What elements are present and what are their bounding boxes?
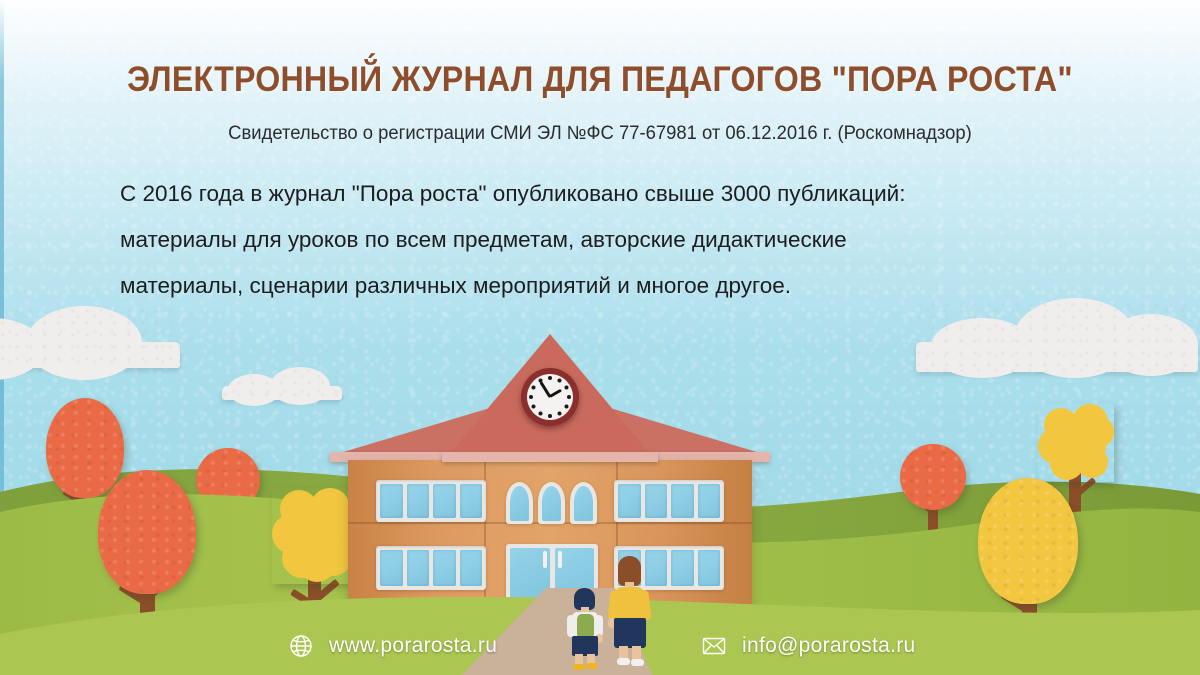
school-building <box>330 334 770 606</box>
window-pane <box>380 550 403 586</box>
clock-hour-hand <box>549 389 562 398</box>
tree-canopy <box>98 470 196 594</box>
window-pane <box>380 484 403 518</box>
cloud-top-left <box>0 306 180 368</box>
figure-child <box>562 588 606 668</box>
child-backpack <box>577 614 594 638</box>
arched-window-center <box>538 482 565 524</box>
child-shoe-left <box>573 664 585 670</box>
window-band-upper-right <box>614 480 724 522</box>
clock-minute-hand <box>539 381 551 398</box>
window-pane <box>698 550 721 586</box>
footer-website[interactable]: www.porarosta.ru <box>287 632 497 660</box>
cloud-mid-left <box>222 366 342 400</box>
text-block: ЭЛЕКТРОННЫЙ́ ЖУРНАЛ ДЛЯ ПЕДАГОГОВ "ПОРА … <box>0 0 1200 309</box>
cloud-top-right <box>916 300 1198 372</box>
figure-mother <box>604 556 656 664</box>
email-label[interactable]: info@porarosta.ru <box>742 634 916 658</box>
footer-email[interactable]: info@porarosta.ru <box>700 632 916 660</box>
registration-subtitle: Свидетельство о регистрации СМИ ЭЛ №ФС 7… <box>18 100 1182 145</box>
window-pane <box>433 484 456 518</box>
window-pane <box>460 550 483 586</box>
window-band-lower-left <box>376 546 486 590</box>
mother-shoe-left <box>617 658 630 665</box>
page-title: ЭЛЕКТРОННЫЙ́ ЖУРНАЛ ДЛЯ ПЕДАГОГОВ "ПОРА … <box>48 0 1152 100</box>
school-eave-center <box>442 452 658 462</box>
website-label[interactable]: www.porarosta.ru <box>329 634 497 658</box>
window-pane <box>433 550 456 586</box>
window-band-upper-left <box>376 480 486 522</box>
window-pane <box>671 484 694 518</box>
arched-window-left <box>506 482 533 524</box>
body-line-3: материалы, сценарии различных мероприяти… <box>120 263 1080 309</box>
banner-canvas: ЭЛЕКТРОННЫЙ́ ЖУРНАЛ ДЛЯ ПЕДАГОГОВ "ПОРА … <box>0 0 1200 675</box>
child-shoe-right <box>586 663 598 669</box>
mother-skirt <box>614 618 646 648</box>
window-pane <box>407 484 430 518</box>
child-arm-left <box>567 615 575 637</box>
school-clock <box>521 368 579 426</box>
window-pane <box>698 484 721 518</box>
body-copy: С 2016 года в журнал "Пора роста" опубли… <box>120 145 1080 309</box>
window-pane <box>645 484 668 518</box>
body-line-2: материалы для уроков по всем предметам, … <box>120 217 1080 263</box>
arched-window-right <box>570 482 597 524</box>
window-pane <box>460 484 483 518</box>
window-pane <box>618 484 641 518</box>
child-shorts <box>572 636 598 656</box>
clock-face <box>527 374 573 420</box>
body-line-1: С 2016 года в журнал "Пора роста" опубли… <box>120 171 1080 217</box>
window-pane <box>407 550 430 586</box>
mother-shoe-right <box>631 659 644 666</box>
window-pane <box>671 550 694 586</box>
globe-icon <box>287 632 315 660</box>
tree-canopy <box>978 478 1078 604</box>
envelope-icon <box>700 632 728 660</box>
